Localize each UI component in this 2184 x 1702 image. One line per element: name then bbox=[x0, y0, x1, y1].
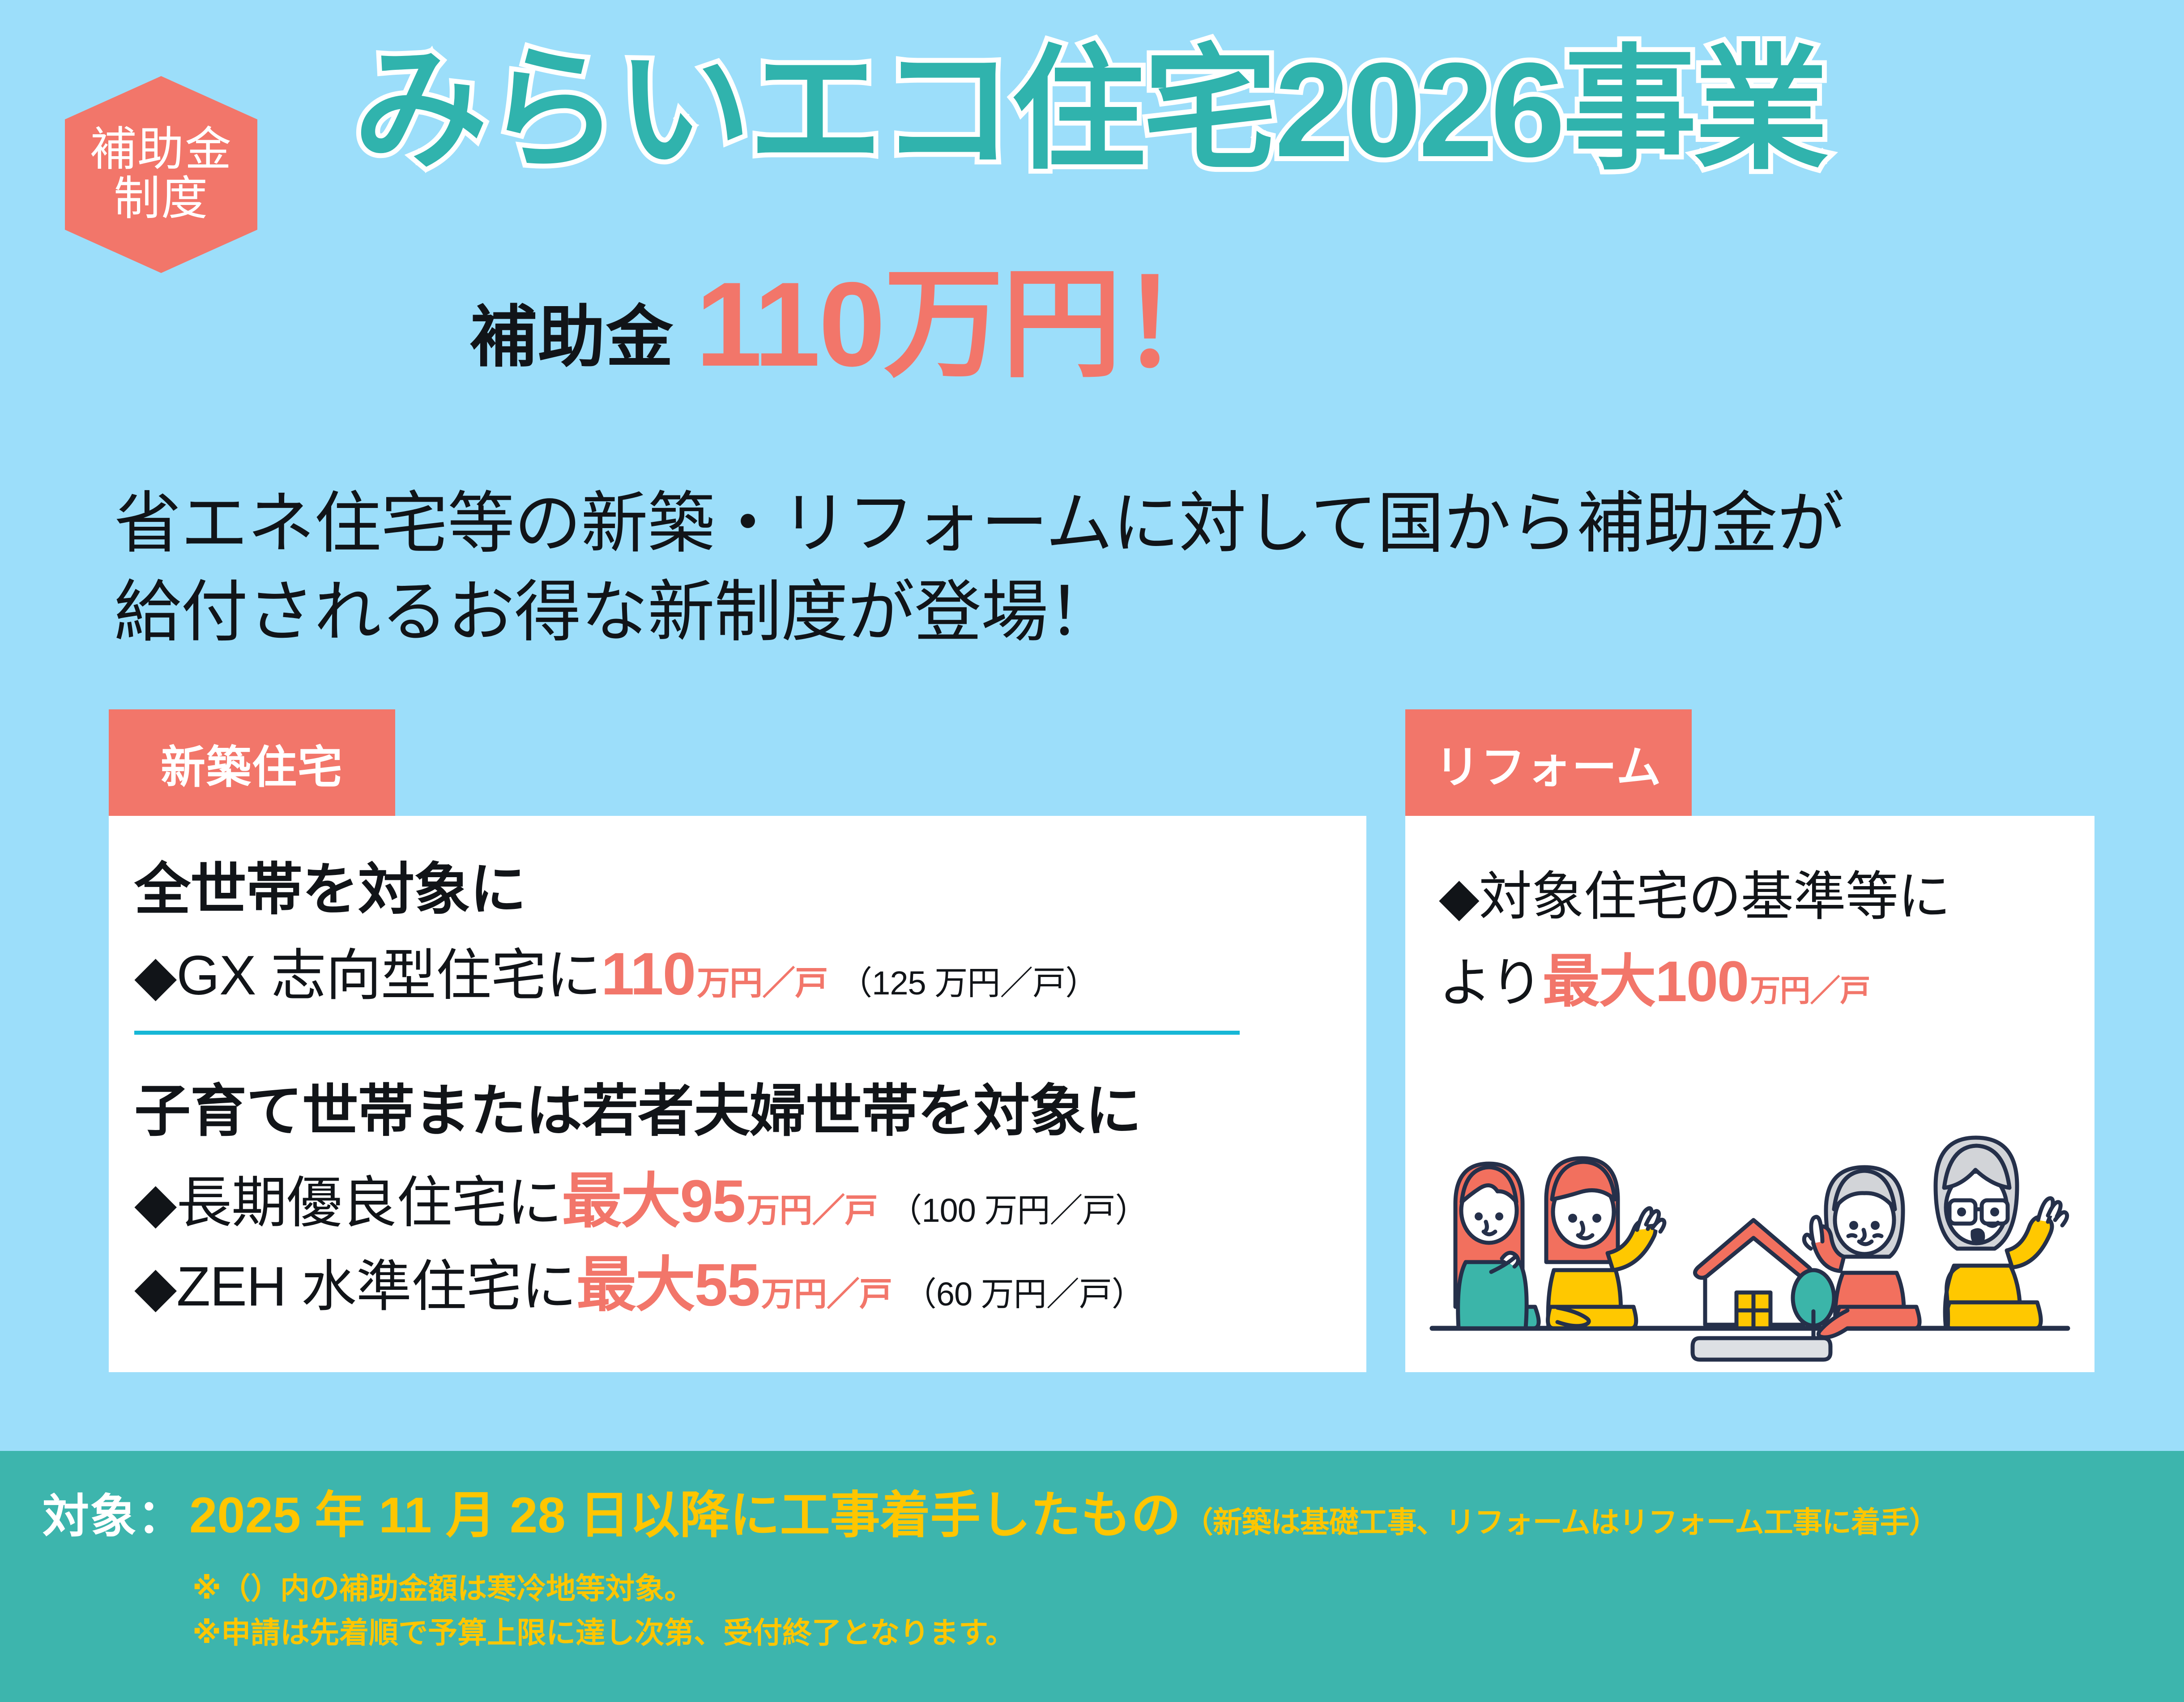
page-title: みらいエコ住宅2026事業 bbox=[354, 43, 1826, 177]
new-build-item-chouki: ◆長期優良住宅に 最大95 万円／戸 （100 万円／戸） bbox=[134, 1172, 1147, 1232]
item-zeh-amount: 最大55 bbox=[576, 1255, 759, 1315]
footer-target-value: 2025 年 11 月 28 日以降に工事着手したもの bbox=[189, 1490, 1181, 1540]
new-build-section1-heading: 全世帯を対象に bbox=[134, 862, 526, 918]
reform-line-1: ◆対象住宅の基準等に bbox=[1439, 870, 1950, 923]
reform-line-1-text: ◆対象住宅の基準等に bbox=[1439, 867, 1950, 926]
tab-new-build[interactable]: 新築住宅 bbox=[109, 709, 395, 817]
tab-reform[interactable]: リフォーム bbox=[1405, 709, 1692, 817]
badge-line-1: 補助金 bbox=[90, 125, 232, 175]
item-gx-unit: 万円／戸 bbox=[697, 967, 828, 1000]
item-chouki-prefix: ◆長期優良住宅に bbox=[134, 1175, 562, 1231]
item-gx-paren: （125 万円／戸） bbox=[839, 967, 1098, 1000]
lead-line-2: 給付されるお得な新制度が登場！ bbox=[114, 567, 1844, 656]
item-zeh-prefix: ◆ZEH 水準住宅に bbox=[134, 1259, 576, 1314]
badge-line-2: 制度 bbox=[114, 175, 209, 224]
subsidy-amount: 110万円！ bbox=[695, 264, 1238, 384]
reform-line-2-unit: 万円／戸 bbox=[1750, 976, 1870, 1006]
item-gx-amount: 110 bbox=[601, 944, 695, 1004]
subsidy-system-badge: 補助金 制度 bbox=[65, 76, 257, 273]
footer-note-2: ※申請は先着順で予算上限に達し次第、受付終了となります。 bbox=[192, 1611, 1015, 1655]
reform-line-2-amount: 最大100 bbox=[1543, 953, 1749, 1011]
new-build-item-zeh: ◆ZEH 水準住宅に 最大55 万円／戸 （60 万円／戸） bbox=[134, 1255, 1144, 1315]
item-chouki-unit: 万円／戸 bbox=[746, 1194, 877, 1227]
item-zeh-paren: （60 万円／戸） bbox=[904, 1278, 1144, 1311]
footer-target-note: （新築は基礎工事、リフォームはリフォーム工事に着手） bbox=[1184, 1507, 1938, 1537]
card-divider bbox=[134, 1031, 1240, 1035]
item-zeh-unit: 万円／戸 bbox=[761, 1278, 892, 1311]
item-chouki-amount: 最大95 bbox=[562, 1172, 745, 1232]
subsidy-label: 補助金 bbox=[470, 303, 674, 384]
lead-paragraph: 省エネ住宅等の新築・リフォームに対して国から補助金が 給付されるお得な新制度が登… bbox=[114, 479, 1844, 656]
footer-note-1: ※（）内の補助金額は寒冷地等対象。 bbox=[192, 1566, 1015, 1611]
family-house-illustration bbox=[1423, 1114, 2081, 1365]
footer-target-line: 対象： 2025 年 11 月 28 日以降に工事着手したもの （新築は基礎工事… bbox=[43, 1490, 1938, 1540]
reform-line-2-prefix: より bbox=[1439, 957, 1543, 1010]
new-build-section2-heading: 子育て世帯または若者夫婦世帯を対象に bbox=[134, 1083, 1141, 1139]
lead-line-1: 省エネ住宅等の新築・リフォームに対して国から補助金が bbox=[114, 479, 1844, 567]
item-gx-prefix: ◆GX 志向型住宅に bbox=[134, 948, 601, 1003]
footer-target-label: 対象： bbox=[43, 1493, 185, 1540]
item-chouki-paren: （100 万円／戸） bbox=[889, 1194, 1147, 1227]
footer-notes: ※（）内の補助金額は寒冷地等対象。 ※申請は先着順で予算上限に達し次第、受付終了… bbox=[192, 1566, 1015, 1655]
subsidy-headline: 補助金 110万円！ bbox=[470, 264, 1238, 384]
poster-root: 補助金 制度 みらいエコ住宅2026事業 補助金 110万円！ 省エネ住宅等の新… bbox=[0, 0, 2184, 1702]
new-build-item-gx: ◆GX 志向型住宅に 110 万円／戸 （125 万円／戸） bbox=[134, 944, 1098, 1004]
reform-line-2: より 最大100 万円／戸 bbox=[1439, 953, 1870, 1011]
